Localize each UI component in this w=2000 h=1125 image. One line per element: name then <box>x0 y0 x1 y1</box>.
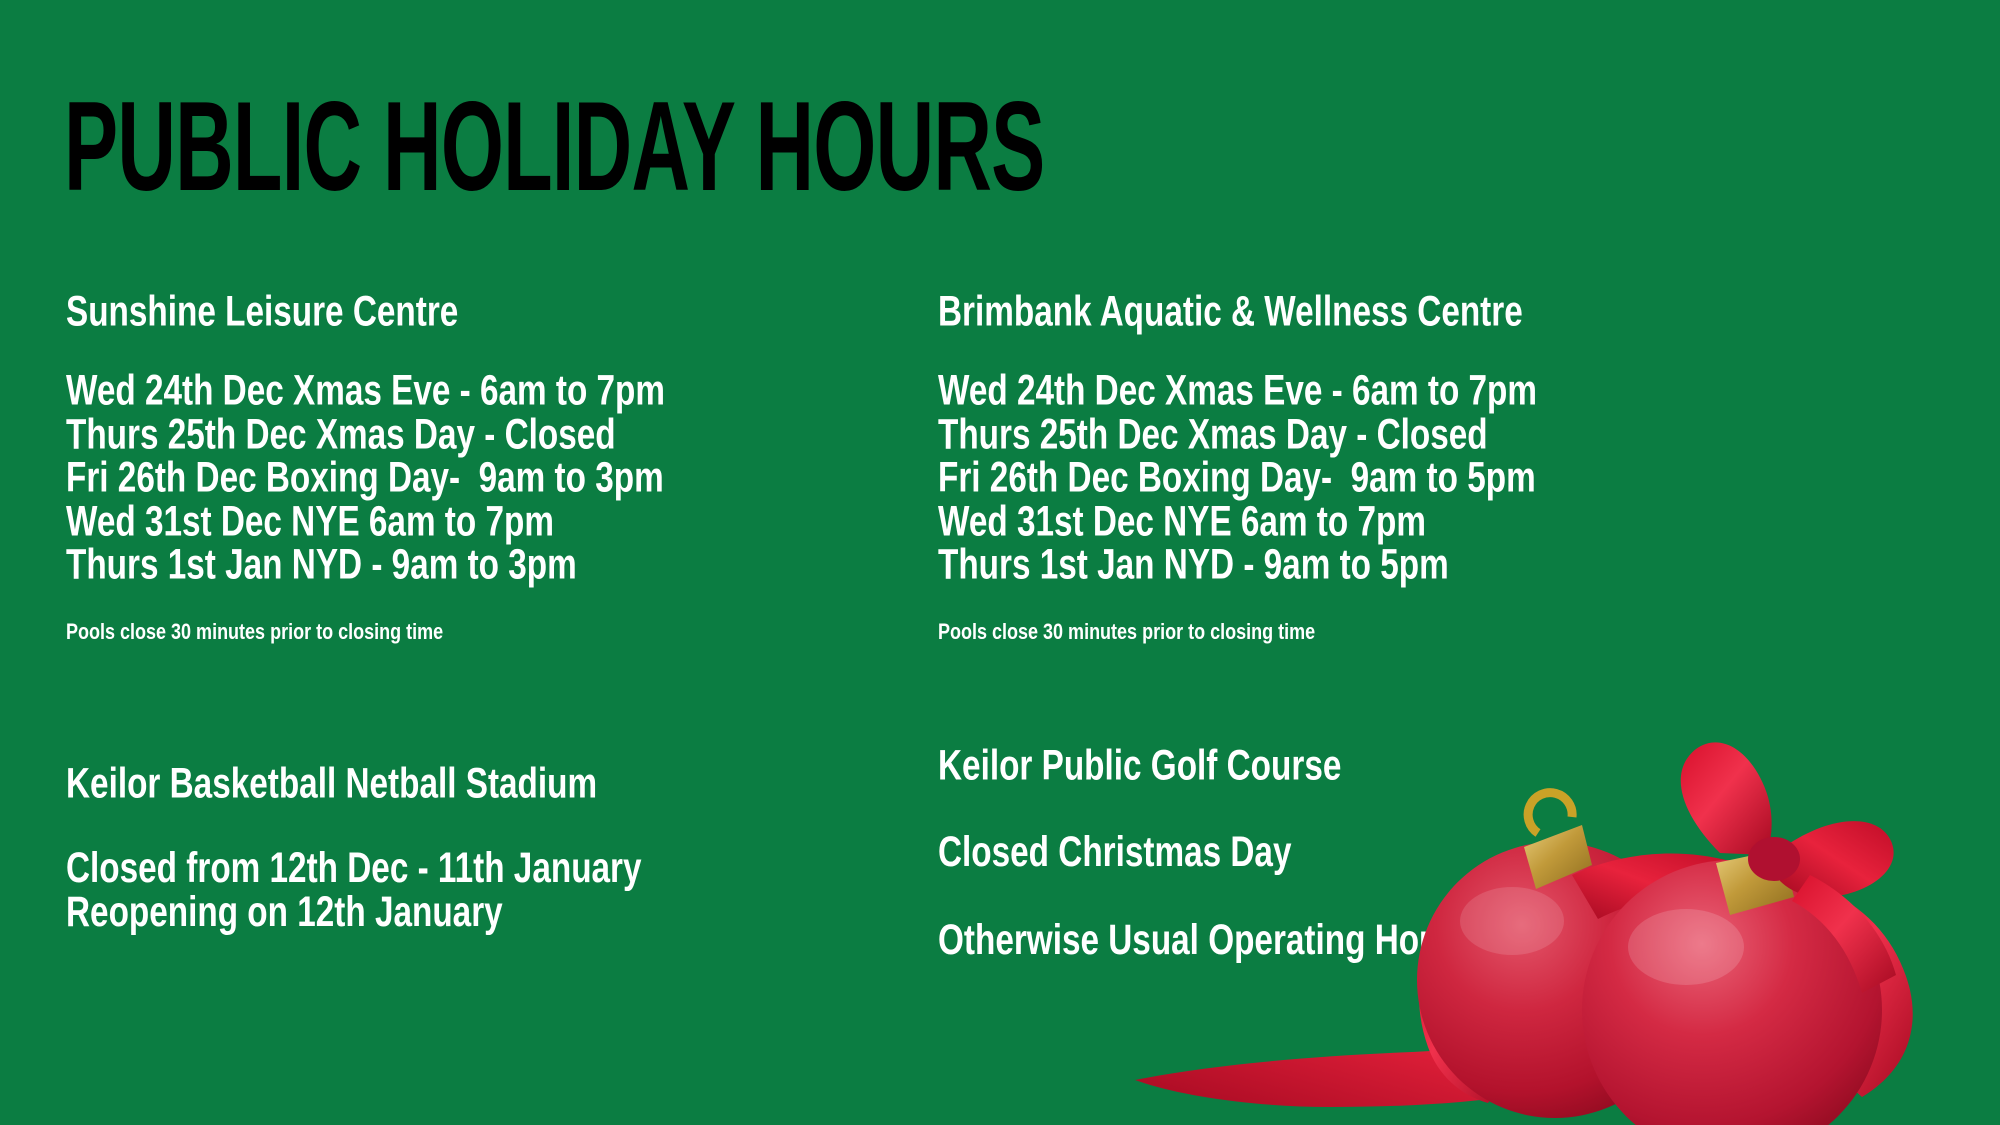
hours-line: Fri 26th Dec Boxing Day- 9am to 5pm <box>938 453 1730 503</box>
hours-line: Thurs 1st Jan NYD - 9am to 3pm <box>66 540 858 590</box>
venue-name-brimbank-aquatic-wellness-centre: Brimbank Aquatic & Wellness Centre <box>938 288 1730 335</box>
pools-close-note: Pools close 30 minutes prior to closing … <box>66 619 858 646</box>
venue-name-keilor-basketball-netball-stadium: Keilor Basketball Netball Stadium <box>66 760 858 807</box>
ribbon-tail <box>1135 940 1732 1107</box>
venue-name-keilor-public-golf-course: Keilor Public Golf Course <box>938 742 1730 789</box>
hours-line: Wed 31st Dec NYE 6am to 7pm <box>938 497 1730 547</box>
right-column: Brimbank Aquatic & Wellness Centre Wed 2… <box>938 288 1818 643</box>
hours-list-brimbank-aquatic-wellness-centre: Wed 24th Dec Xmas Eve - 6am to 7pm Thurs… <box>938 369 1818 586</box>
hours-line: Thurs 1st Jan NYD - 9am to 5pm <box>938 540 1730 590</box>
hours-line: Wed 24th Dec Xmas Eve - 6am to 7pm <box>938 366 1730 416</box>
closed-christmas-day-line: Closed Christmas Day <box>938 827 1730 877</box>
usual-hours-line: Otherwise Usual Operating Hours <box>938 915 1730 965</box>
venue-block-sunshine-leisure-centre: Sunshine Leisure Centre Wed 24th Dec Xma… <box>66 288 946 643</box>
reopening-line: Reopening on 12th January <box>66 887 858 937</box>
venue-block-keilor-public-golf-course: Keilor Public Golf Course Closed Christm… <box>938 742 1818 958</box>
pools-close-note: Pools close 30 minutes prior to closing … <box>938 619 1730 646</box>
hours-list-sunshine-leisure-centre: Wed 24th Dec Xmas Eve - 6am to 7pm Thurs… <box>66 369 946 586</box>
venue-block-brimbank-aquatic-wellness-centre: Brimbank Aquatic & Wellness Centre Wed 2… <box>938 288 1818 643</box>
venue-name-sunshine-leisure-centre: Sunshine Leisure Centre <box>66 288 858 335</box>
page-title: PUBLIC HOLIDAY HOURS <box>64 84 1044 211</box>
public-holiday-hours-poster: PUBLIC HOLIDAY HOURS Sunshine Leisure Ce… <box>0 0 2000 1125</box>
hours-line: Wed 24th Dec Xmas Eve - 6am to 7pm <box>66 366 858 416</box>
hours-line: Wed 31st Dec NYE 6am to 7pm <box>66 497 858 547</box>
closure-line: Closed from 12th Dec - 11th January <box>66 843 858 893</box>
hours-line: Fri 26th Dec Boxing Day- 9am to 3pm <box>66 453 858 503</box>
venue-block-keilor-basketball-netball-stadium: Keilor Basketball Netball Stadium Closed… <box>66 760 946 930</box>
left-column: Sunshine Leisure Centre Wed 24th Dec Xma… <box>66 288 946 643</box>
